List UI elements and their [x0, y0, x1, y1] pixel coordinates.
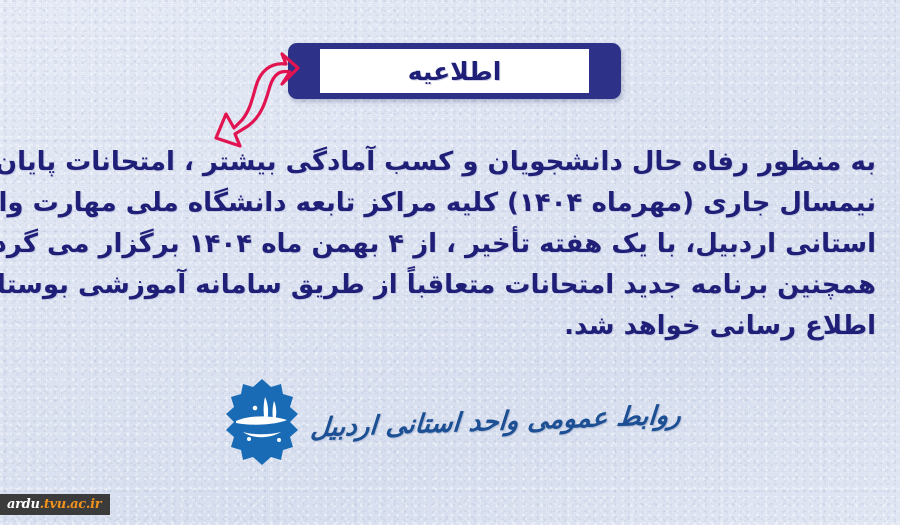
announcement-poster: اطلاعیه به منظور رفاه حال دانشجویان و کس…: [0, 0, 900, 525]
announcement-line-5: اطلاع رسانی خواهد شد.: [24, 306, 876, 347]
university-emblem-icon: [219, 377, 305, 467]
footer-signature-group: روابط عمومی واحد استانی اردبیل: [0, 372, 900, 472]
site-watermark: ardu.tvu.ac.ir: [0, 494, 110, 515]
watermark-site-name: ardu: [7, 497, 40, 512]
page-title: اطلاعیه: [408, 59, 502, 84]
announcement-body: به منظور رفاه حال دانشجویان و کسب آمادگی…: [24, 142, 876, 347]
header-banner: اطلاعیه: [288, 43, 621, 99]
header-banner-inner: اطلاعیه: [320, 49, 589, 93]
curved-arrow-down-left-icon: [208, 42, 300, 154]
announcement-line-4: همچنین برنامه جدید امتحانات متعاقباً از …: [24, 265, 876, 306]
watermark-site-domain: .tvu.ac.ir: [40, 497, 102, 512]
announcement-line-2: نیمسال جاری (مهرماه ۱۴۰۴) کلیه مراکز تاب…: [24, 183, 876, 224]
announcement-line-1: به منظور رفاه حال دانشجویان و کسب آمادگی…: [24, 142, 876, 183]
announcement-line-3: استانی اردبیل، با یک هفته تأخیر ، از ۴ ب…: [24, 224, 876, 265]
public-relations-signature: روابط عمومی واحد استانی اردبیل: [310, 401, 683, 444]
